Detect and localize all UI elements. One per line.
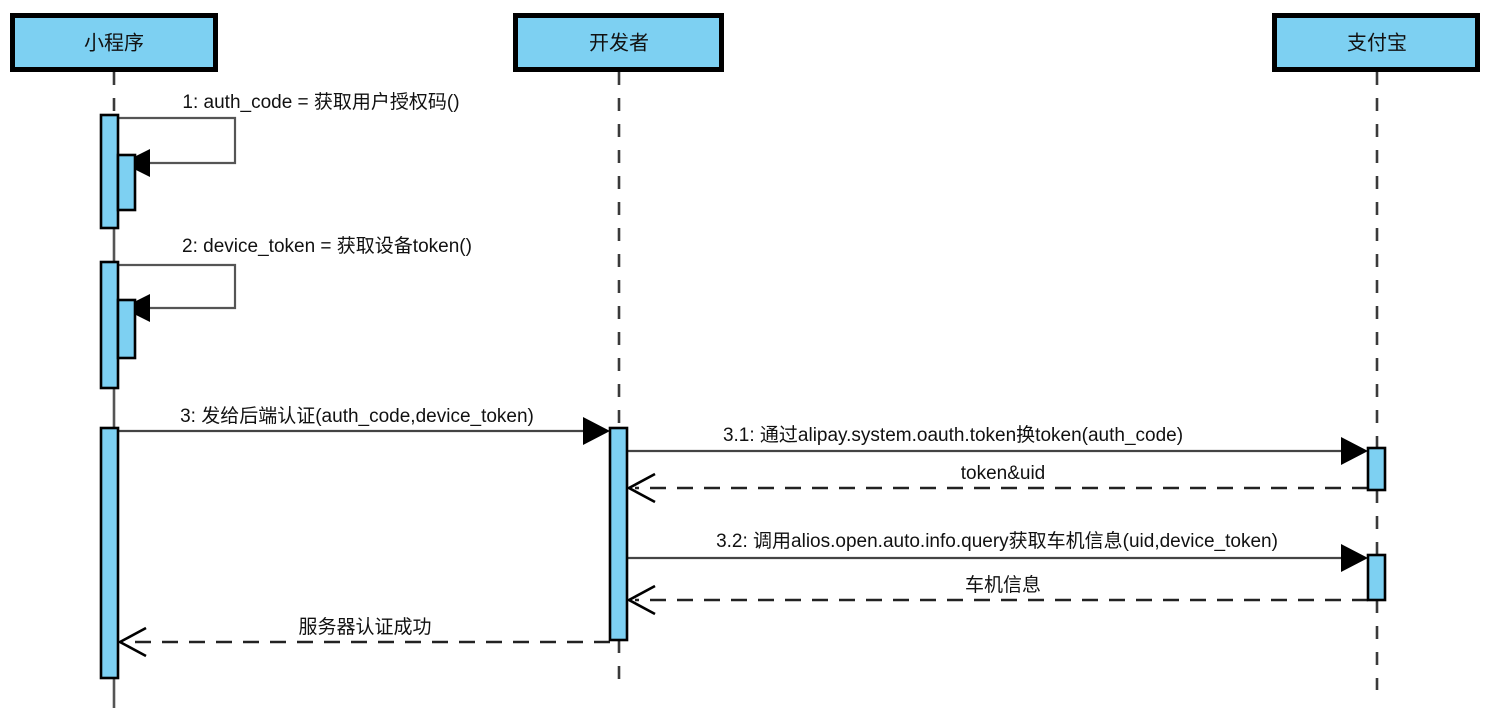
participant-alipay-label: 支付宝	[1347, 31, 1407, 54]
activation-miniapp-1	[101, 115, 118, 228]
lifelines-layer	[114, 72, 1377, 708]
message-2-label: 2: device_token = 获取设备token()	[182, 235, 472, 257]
participant-miniapp[interactable]: 小程序	[13, 16, 216, 70]
message-3-1-label: 3.1: 通过alipay.system.oauth.token换token(a…	[723, 424, 1183, 446]
participant-alipay[interactable]: 支付宝	[1275, 16, 1478, 70]
activation-miniapp-2-nested	[118, 300, 135, 358]
message-3-2-arrowhead	[1341, 544, 1368, 572]
message-auth-success-label: 服务器认证成功	[298, 616, 431, 638]
activation-miniapp-3	[101, 428, 118, 678]
sequence-diagram-canvas: 小程序 开发者 支付宝 1: auth_code = 获取用户授权码() 2: …	[0, 0, 1500, 715]
activation-miniapp-1-nested	[118, 155, 135, 210]
participant-developer[interactable]: 开发者	[516, 16, 722, 70]
message-labels-layer: 1: auth_code = 获取用户授权码() 2: device_token…	[180, 91, 1278, 638]
message-1-label: 1: auth_code = 获取用户授权码()	[182, 91, 459, 113]
message-token-uid-label: token&uid	[961, 463, 1046, 484]
message-3-2-label: 3.2: 调用alios.open.auto.info.query获取车机信息(…	[716, 530, 1278, 552]
message-3-label: 3: 发给后端认证(auth_code,device_token)	[180, 405, 534, 427]
activation-alipay-2	[1368, 555, 1385, 600]
activations-layer	[101, 115, 1385, 678]
participant-developer-label: 开发者	[589, 31, 649, 54]
activation-miniapp-2	[101, 262, 118, 388]
message-3-1-arrowhead	[1341, 437, 1368, 465]
activation-developer-1	[610, 428, 627, 640]
message-vehicle-info-label: 车机信息	[965, 574, 1041, 596]
sequence-diagram-svg: 小程序 开发者 支付宝 1: auth_code = 获取用户授权码() 2: …	[0, 0, 1500, 715]
activation-alipay-1	[1368, 448, 1385, 490]
participant-miniapp-label: 小程序	[84, 31, 144, 54]
message-3-arrowhead	[583, 417, 610, 445]
